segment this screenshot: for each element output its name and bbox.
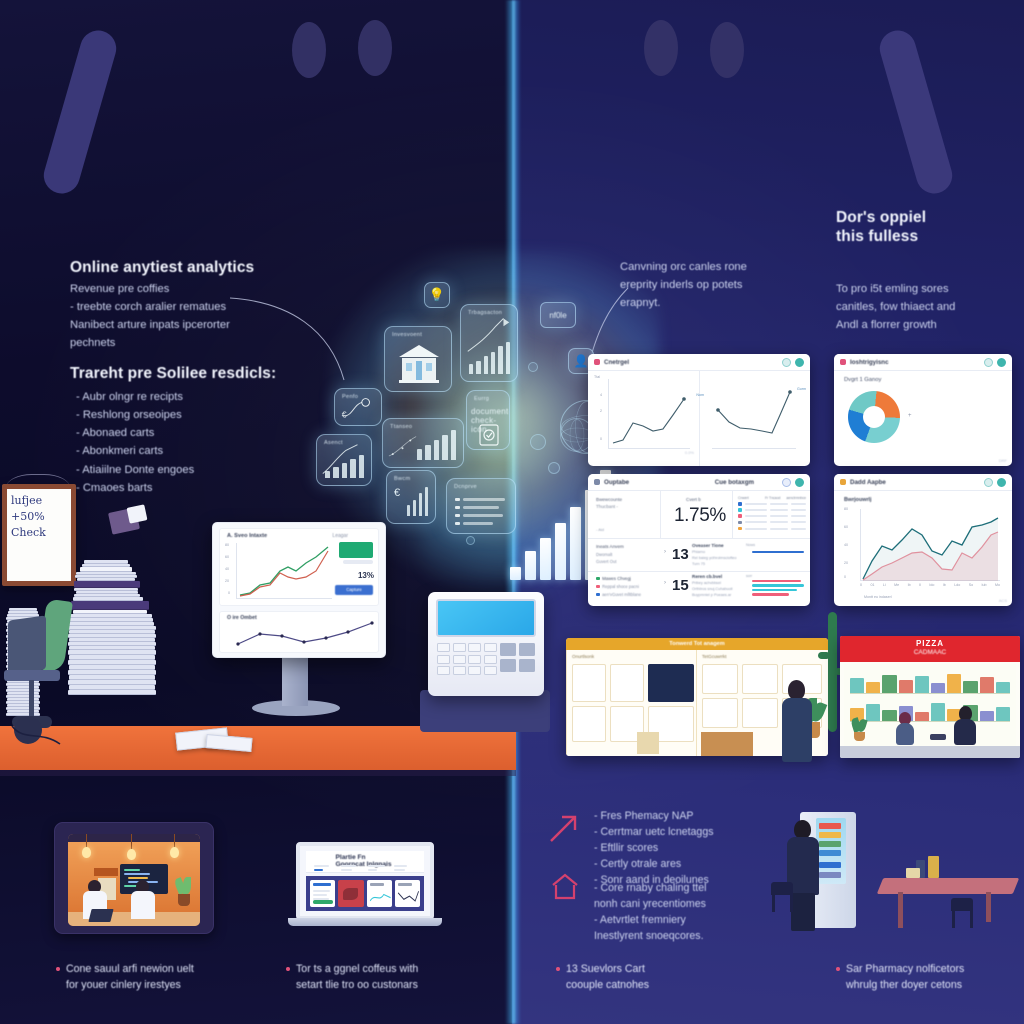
chart-watermark: DRF [999, 458, 1007, 463]
ceiling-rail [68, 834, 200, 842]
kpi-left-label-1: Bwewcounte [596, 497, 622, 502]
billboard-tile[interactable] [702, 698, 738, 728]
caption-3-line-1: 13 Suevlors Cart [566, 962, 649, 978]
left-bullet-4: - Abonkmeri carts [76, 442, 346, 460]
paper-stack-tall [68, 560, 156, 695]
right-body-line-1: To pro i5t emling sores [836, 280, 1016, 298]
table-row[interactable] [738, 514, 806, 518]
legend-item: Reppal shoce pacni [596, 584, 639, 589]
monitor-stand [282, 658, 308, 706]
feature-1-item-4: - Certly otrale ares [594, 856, 764, 872]
dashboard-card-donut[interactable]: Ioshtrigyisnc Dvgrt 1 Ganoy + DRF [834, 354, 1012, 466]
decor-ellipse-3 [644, 20, 678, 76]
dashboard-card-kpi[interactable]: Ouptabe Cue botaxgm Bwewcounte Thucbant … [588, 474, 810, 606]
right-body-line-2: canitles, fow thiaect and [836, 298, 1016, 316]
x-tick-10: Iub [982, 583, 987, 587]
right-heading-line-1: Dor's oppiel [836, 208, 1016, 227]
x-tick-0: 0 [860, 583, 862, 587]
x-tick-9: So [969, 583, 973, 587]
row-label: Ineats Anvem [596, 544, 624, 549]
dashboard-card-area[interactable]: Dadd Aapbe Bwrjouwrlj 80 60 40 20 0 [834, 474, 1012, 606]
glass-card-euro-bars[interactable]: Bwcm € [386, 470, 436, 524]
feature-1-item-1: - Fres Phemacy NAP [594, 808, 764, 824]
pos-keypad[interactable] [437, 643, 497, 675]
decor-ellipse-1 [292, 22, 326, 78]
chair-right-2 [948, 898, 976, 928]
area-series [860, 509, 1000, 581]
glass-card-tag-label: nf0le [541, 303, 575, 327]
right-panel-body: To pro i5t emling sores canitles, fow th… [836, 280, 1016, 334]
right-callout-line-2: ereprity inderls op potets [620, 276, 810, 294]
laptop-card-grid [306, 876, 424, 911]
glass-card-trend-bars[interactable]: Ttanseo [382, 418, 464, 468]
pos-base [420, 690, 550, 732]
row-sub-2: aen'vGuvet mlltblane [602, 592, 641, 597]
legend-item: Mawes Chvegj [596, 576, 631, 581]
feature-1-item-3: - Eftllir scores [594, 840, 764, 856]
laptop-open [88, 909, 113, 922]
table-leg [898, 892, 903, 928]
x-tick-3: Me [894, 583, 899, 587]
line-series [232, 620, 384, 650]
decor-circle-3 [528, 362, 538, 372]
left-intro-line-4: pechnets [70, 334, 340, 352]
pos-screen [436, 599, 536, 637]
table-header-1: Cnwert [738, 496, 762, 500]
glass-card-bank[interactable]: Invesvoent [384, 326, 452, 392]
glass-card-doc-check[interactable]: Eurrg document-check-icon [466, 390, 510, 450]
pos-function-keys[interactable] [500, 643, 535, 672]
billboard-crate [701, 732, 753, 756]
feature-2-item-1: - Core rnaby chaling ttel [594, 880, 764, 896]
table-header-3: aenctrmnbce [786, 496, 806, 500]
caption-1-line-2: for youer cinlery irestyes [66, 978, 194, 994]
store-sign-line-2: CADMAAC [914, 649, 947, 656]
dashboard-card-dual-bars[interactable]: Cnetrgel Ttal 4 2 0 [588, 354, 810, 466]
caret-icon: › [664, 549, 666, 555]
line-series-green [236, 543, 332, 599]
decor-circle-4 [466, 536, 475, 545]
store-register [930, 734, 946, 740]
billboard-header-bar: Tonwerd Tot anagem [566, 638, 828, 650]
billboard-right-label: TetGcuwrrkt [702, 654, 727, 659]
avatar[interactable] [997, 358, 1006, 367]
table-leg [986, 892, 991, 922]
y-axis-label: Ttal [594, 375, 600, 379]
row-number: 13 [672, 546, 689, 563]
glass-card-bank-label: Invesvoent [392, 332, 422, 338]
svg-text:€: € [342, 410, 347, 420]
decor-ellipse-4 [710, 22, 744, 78]
row-sub-2: Guvert Out [596, 559, 616, 564]
table-row[interactable] [738, 521, 806, 525]
x-tick-8: Ldo [954, 583, 960, 587]
line-series [608, 379, 690, 449]
left-bullet-5: - Atiaiilne Donte engoes [76, 461, 346, 479]
billboard-tile[interactable] [610, 664, 644, 702]
billboard-tile[interactable] [742, 698, 778, 728]
table-row[interactable] [738, 502, 806, 506]
table-rows [738, 502, 806, 530]
glass-card-line-up[interactable]: Asenct [316, 434, 372, 486]
laptop-dashboard[interactable]: Plartie Fn Goorncat Inlgnais [288, 842, 442, 930]
pendant-lamp-1 [82, 847, 91, 858]
left-intro-line-3: Nanibect arture inpats ipcerorter [70, 316, 340, 334]
document-check-icon [477, 423, 501, 447]
caret-icon: › [664, 580, 666, 586]
chart-watermark: ACS [999, 598, 1007, 603]
decor-ellipse-2 [358, 20, 392, 76]
kpi-left-label-2: Thucbant - [596, 504, 618, 509]
euro-bar-icon: € [394, 487, 400, 499]
store-shelf-row [850, 668, 1010, 694]
table-header-2: Fr Tncaod [765, 496, 783, 500]
decor-circle-1 [530, 434, 546, 450]
avatar[interactable] [795, 478, 804, 487]
feature-2-item-4: Inestlyrent snoeqcores. [594, 928, 764, 944]
billboard-box [637, 732, 659, 754]
dashboard-header: Ouptabe Cue botaxgm [588, 474, 810, 491]
dashboard-body: Bwewcounte Thucbant - - Aid Cvert b 1.75… [588, 491, 810, 606]
store-base [840, 746, 1020, 758]
row-desc-3: Buypmniel p Poeaes.ar [692, 593, 731, 597]
table-header-row: Cnwert Fr Tncaod aenctrmnbce [738, 496, 806, 500]
status-dot-icon [594, 359, 600, 365]
row-sub-1: Reppal shoce pacni [602, 584, 639, 589]
status-dot-icon [840, 479, 846, 485]
y-tick-0: 80 [844, 507, 848, 511]
row-progress-bars [752, 580, 804, 596]
row-desc-2: Orthiiros snuj.Cuhabuoll [692, 587, 733, 591]
feature-list-2: - Core rnaby chaling ttel nonh cani yrec… [594, 880, 764, 944]
caption-4: Sar Pharmacy nolficetors whrulg ther doy… [836, 962, 1024, 994]
series-end-label: Gurm [797, 387, 806, 391]
caption-4-line-2: whrulg ther doyer cetons [846, 978, 964, 994]
bank-building-icon [397, 343, 441, 385]
desk-surface [0, 726, 516, 770]
bar-chart-icon [325, 452, 364, 478]
panel-divider [660, 491, 661, 538]
feature-list-1: - Fres Phemacy NAP - Cerrtmar uetc lcnet… [594, 808, 764, 888]
billboard-tile[interactable] [572, 706, 606, 742]
row-title: Reren cb.bvel [692, 574, 722, 579]
dashboard-center-title: Cue botaxgm [715, 479, 754, 486]
row-bar-label: Nows [746, 543, 755, 547]
arrow-up-right-icon [548, 812, 580, 844]
table-napkin [906, 868, 920, 878]
dashboard-header: Dadd Aapbe [834, 474, 1012, 491]
left-bullet-6: - Cmaoes barts [76, 479, 346, 497]
avatar[interactable] [997, 478, 1006, 487]
row-title: Oveaser Tione [692, 543, 724, 548]
row-desc-1: Pribey achvbbsel [692, 581, 721, 585]
dashboard-title: Dadd Aapbe [850, 479, 886, 486]
person-at-refrigerator [784, 820, 822, 930]
row-number: 15 [672, 577, 689, 594]
caption-4-line-1: Sar Pharmacy nolficetors [846, 962, 964, 978]
kpi-top-row: Bwewcounte Thucbant - - Aid Cvert b 1.75… [588, 491, 810, 539]
caption-2-text: Tor ts a ggnel coffeus with setart tlie … [296, 962, 418, 994]
line-series [712, 379, 796, 449]
dashboard-body: Ttal 4 2 0 Nom 0.0% [588, 371, 810, 466]
bar-chart-icon [407, 487, 428, 516]
office-plant [174, 878, 194, 908]
right-panel-heading: Dor's oppiel this fulless [836, 208, 1016, 247]
laptop-screen: Plartie Fn Goorncat Inlgnais [296, 842, 434, 920]
feature-2-item-2: nonh cani yrecentiomes [594, 896, 764, 912]
dashboard-subtitle: Dvgrt 1 Ganoy [844, 377, 881, 383]
legend-item: aen'vGuvet mlltblane [596, 592, 641, 597]
billboard-tile[interactable] [572, 664, 606, 702]
laptop-card-chart-2[interactable] [395, 880, 420, 907]
feature-2-item-3: - Aetvrtlet fremniery [594, 912, 764, 928]
checklist-icon [454, 495, 510, 529]
glass-card-transaction[interactable]: Trbagsacton [460, 304, 518, 382]
right-callout-line-3: erapnyt. [620, 294, 810, 312]
row-desc-1: Phiarno [692, 550, 705, 554]
whiteboard-text: lufjee +50% Check [11, 493, 67, 577]
y-tick-4: 0 [844, 575, 846, 579]
x-tick-5: Il [919, 583, 921, 587]
dashboard-title: Cnetrgel [604, 359, 629, 366]
glass-card-node-graph[interactable]: Penfo € [334, 388, 382, 426]
left-panel-bullets: - Aubr olngr re recipts - Reshlong orseo… [76, 388, 346, 497]
right-heading-line-2: this fulless [836, 227, 1016, 246]
panel-divider [699, 371, 700, 466]
refresh-button[interactable] [984, 478, 993, 487]
dashboard-body: Bwrjouwrlj 80 60 40 20 0 0 01 L [834, 491, 1012, 606]
kpi-left-footer: - Aid [596, 527, 604, 532]
dashboard-subtitle: Bwrjouwrlj [844, 497, 872, 503]
store-sign-line-1: PIZZA [916, 639, 944, 648]
office-illustration [68, 834, 200, 926]
dashboard-header: Ioshtrigyisnc [834, 354, 1012, 371]
billboard-tile[interactable] [742, 664, 778, 694]
capture-button[interactable]: Capture [335, 585, 373, 595]
ghost-text [343, 560, 373, 564]
caption-2: Tor ts a ggnel coffeus with setart tlie … [286, 962, 496, 994]
dashboard-title: Ouptabe [604, 479, 629, 486]
dashboard-title: Ioshtrigyisnc [850, 359, 889, 366]
caption-3: 13 Suevlors Cart coouple catnohes [556, 962, 746, 994]
x-tick-2: Li [883, 583, 886, 587]
caption-2-line-2: setart tlie tro oo custonars [296, 978, 418, 994]
monitor-chart-card-1: A. Sveo Intaxte Leagar 80 60 40 20 0 13%… [219, 528, 379, 606]
kpi-row-13[interactable]: Ineats Anvem Dwomalt Guvert Out › 13 Ove… [588, 539, 810, 572]
right-body-line-3: Andl a florrer growth [836, 316, 1016, 334]
panel-divider [732, 491, 733, 538]
store-customer [894, 712, 916, 744]
left-panel-heading: Online anytiest analytics [70, 258, 370, 277]
laptop-base [288, 918, 442, 926]
row-label: Mawes Chvegj [602, 576, 631, 581]
bar-series [920, 391, 998, 443]
billboard-column-left: Onurtlsonk [566, 650, 696, 756]
glass-card-checklist[interactable]: Dcnprve [446, 478, 516, 534]
home-icon [550, 872, 580, 902]
node-graph-icon: € [335, 389, 381, 425]
whiteboard-line-2: +50% [11, 509, 67, 525]
caption-2-line-1: Tor ts a ggnel coffeus with [296, 962, 418, 978]
bullet-dot-icon [286, 967, 290, 971]
caption-3-line-2: coouple catnohes [566, 978, 649, 994]
laptop-card-image[interactable] [338, 880, 363, 907]
dashboard-header: Cnetrgel [588, 354, 810, 371]
bullet-dot-icon [836, 967, 840, 971]
pizza-storefront[interactable]: PIZZA CADMAAC [840, 636, 1020, 758]
table-row[interactable] [738, 508, 806, 512]
pendant-lamp-3 [170, 847, 179, 858]
chart-plot: 80 60 40 20 0 [236, 543, 332, 599]
whiteboard: lufjee +50% Check [2, 484, 76, 586]
laptop-stat-row [314, 865, 416, 871]
refresh-button[interactable] [782, 358, 791, 367]
pendant-lamp-2 [127, 849, 136, 860]
right-callout-line-1: Canvning orc canles rone [620, 258, 810, 276]
person-developer-2 [130, 880, 156, 920]
billboard-tile[interactable] [702, 664, 738, 694]
x-tick-7: Ib [943, 583, 946, 587]
store-plant [850, 718, 868, 742]
growth-badge: 13% [358, 571, 374, 580]
bullet-dot-icon [56, 967, 60, 971]
right-callout: Canvning orc canles rone ereprity inderl… [620, 258, 810, 312]
bar-chart-icon [417, 428, 456, 460]
caption-1-text: Cone sauul arfi newion uelt for youer ci… [66, 962, 194, 994]
store-shelf-row [850, 696, 1010, 722]
feature-1-item-2: - Cerrtmar uetc lcnetaggs [594, 824, 764, 840]
row-progress-bars [752, 551, 804, 553]
x-tick-4: Ib [908, 583, 911, 587]
left-panel-subheading: Trareht pre Solilee resdicls: [70, 364, 370, 383]
y-tick-2: 40 [844, 543, 848, 547]
info-button[interactable] [782, 478, 791, 487]
caption-1: Cone sauul arfi newion uelt for youer ci… [56, 962, 256, 994]
chart-watermark: 0.0% [685, 450, 694, 455]
pos-terminal[interactable] [428, 592, 544, 696]
monitor-screen[interactable]: A. Sveo Intaxte Leagar 80 60 40 20 0 13%… [212, 522, 386, 658]
x-tick-labels: 0 01 Li Me Ib Il Ido Ib Ldo So Iub Mo [860, 583, 1000, 587]
kpi-value: 1.75% [674, 505, 726, 527]
chart-title: A. Sveo Intaxte [227, 533, 267, 539]
billboard-title: Tonwerd Tot anagem [669, 641, 724, 647]
glass-card-euro-label: Bwcm [394, 476, 410, 482]
glass-card-checklist-label: Dcnprve [454, 484, 477, 490]
whiteboard-line-3: Check [11, 525, 67, 541]
chair-right-1 [768, 882, 796, 912]
bullet-dot-icon [556, 967, 560, 971]
series-end-label: Nom [696, 393, 704, 397]
billboard-left-label: Onurtlsonk [572, 654, 594, 659]
infographic-canvas: Online anytiest analytics Revenue pre co… [0, 0, 1024, 1024]
left-bullet-1: - Aubr olngr re recipts [76, 388, 346, 406]
wall-shelf [94, 868, 118, 876]
left-panel-intro: Revenue pre coffies - treebte corch aral… [70, 280, 340, 353]
x-tick-1: 01 [870, 583, 874, 587]
row-sub-1: Dwomalt [596, 552, 612, 557]
store-sign: PIZZA CADMAAC [840, 636, 1020, 662]
whiteboard-line-1: lufjee [11, 493, 67, 509]
chair-pole [29, 680, 34, 720]
kpi-label: Cvert b [686, 497, 701, 502]
table-row[interactable] [738, 527, 806, 531]
glass-card-doc-label: Eurrg [474, 396, 489, 402]
chart-plot-left: Ttal 4 2 0 Nom 0.0% [608, 379, 690, 449]
x-tick-11: Mo [995, 583, 1000, 587]
lightbulb-icon: 💡 [425, 283, 449, 307]
avatar[interactable] [795, 358, 804, 367]
caption-1-line-1: Cone sauul arfi newion uelt [66, 962, 194, 978]
store-clerk [952, 706, 978, 744]
left-bullet-3: - Abonaed carts [76, 424, 346, 442]
laptop-card-list[interactable] [310, 880, 335, 907]
left-intro-line-1: Revenue pre coffies [70, 280, 340, 298]
y-tick-3: 20 [844, 561, 848, 565]
tablet-frame-office-scene[interactable] [54, 822, 214, 934]
row-desc-2: Rel baieg ycthrolmsciofteo [692, 556, 737, 560]
left-bullet-2: - Reshlong orseoipes [76, 406, 346, 424]
chair-back [8, 615, 46, 674]
x-axis-label: Montt eu indaserl [864, 595, 892, 599]
y-tick-1: 60 [844, 525, 848, 529]
caption-3-text: 13 Suevlors Cart coouple catnohes [566, 962, 649, 994]
x-tick-6: Ido [929, 583, 934, 587]
dashboard-body: Dvgrt 1 Ganoy + DRF [834, 371, 1012, 466]
kpi-chip [339, 542, 373, 558]
left-intro-line-2: - treebte corch aralier rematues [70, 298, 340, 316]
billboard-tile-dark[interactable] [648, 664, 694, 702]
chart-plot: 80 60 40 20 0 0 01 Li Me Ib Il [860, 509, 1000, 581]
person-viewing-billboard [780, 680, 816, 762]
caption-4-text: Sar Pharmacy nolficetors whrulg ther doy… [846, 962, 964, 994]
row-bar-label: sorr [746, 574, 752, 578]
status-dot-icon [840, 359, 846, 365]
row-desc-3: Turn 75 [692, 562, 705, 566]
table-cup [928, 856, 939, 878]
refresh-button[interactable] [984, 358, 993, 367]
laptop-card-chart-1[interactable] [367, 880, 392, 907]
laptop-hero-section: Plartie Fn Goorncat Inlgnais [306, 851, 424, 873]
glass-card-tag[interactable]: nf0le [540, 302, 576, 328]
mini-table: Cnwert Fr Tncaod aenctrmnbce [738, 496, 806, 530]
bar-chart-icon [469, 342, 510, 374]
kpi-row-15[interactable]: Mawes Chvegj Reppal shoce pacni aen'vGuv… [588, 572, 810, 606]
status-dot-icon [594, 479, 600, 485]
donut-chart [848, 391, 900, 443]
plus-separator-icon: + [908, 413, 912, 419]
chart-right-label: Leagar [332, 533, 348, 539]
cable-icon [10, 720, 62, 750]
chart-plot-right: Gurm [712, 379, 796, 449]
glass-card-lightbulb[interactable]: 💡 [424, 282, 450, 308]
store-interior [844, 664, 1016, 746]
monitor-chart-card-2: O ire Ombet [219, 611, 379, 653]
